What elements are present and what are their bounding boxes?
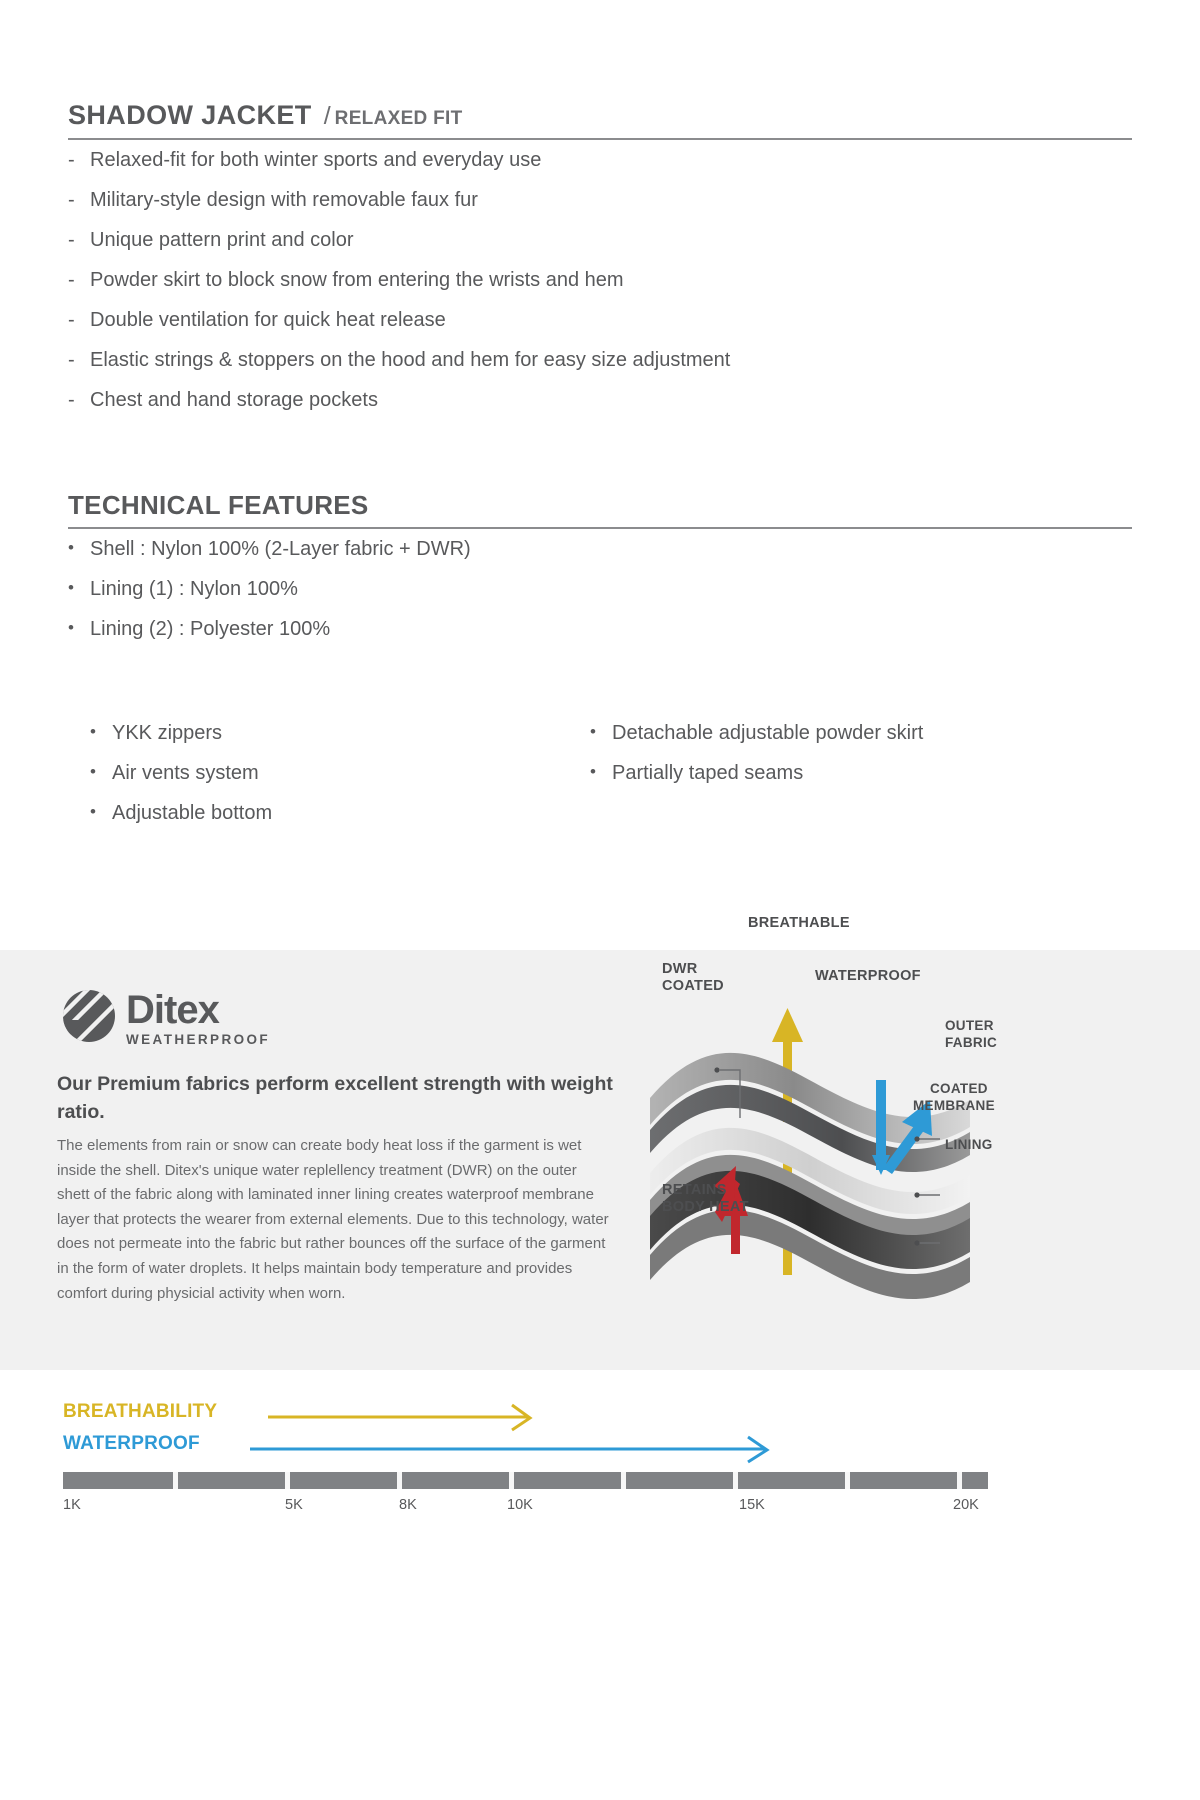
list-item-label: Military-style design with removable fau…: [90, 189, 478, 211]
bullet-marker: •: [68, 568, 74, 608]
list-item: -Unique pattern print and color: [68, 220, 1132, 260]
list-item: -Relaxed-fit for both winter sports and …: [68, 140, 1132, 180]
ditex-logo-mark-icon: [63, 990, 115, 1042]
bullet-marker: •: [90, 712, 96, 752]
list-item-label: Lining (1) : Nylon 100%: [90, 578, 298, 600]
list-item-label: Elastic strings & stoppers on the hood a…: [90, 349, 730, 371]
technical-details-columns: •YKK zippers •Air vents system •Adjustab…: [68, 713, 1132, 833]
retains-body-heat-label-line1: RETAINS: [662, 1182, 727, 1199]
technical-right-column: •Detachable adjustable powder skirt •Par…: [590, 713, 1090, 833]
technical-features-title: TECHNICAL FEATURES: [68, 490, 369, 520]
list-item-label: Relaxed-fit for both winter sports and e…: [90, 149, 541, 171]
tick-label: 10K: [507, 1497, 533, 1513]
dash-marker: -: [68, 260, 75, 300]
waterproof-label: WATERPROOF: [815, 968, 921, 985]
product-section: SHADOW JACKET / RELAXED FIT -Relaxed-fit…: [0, 0, 1200, 833]
lining-label: LINING: [945, 1136, 993, 1153]
breathability-arrow-icon: [268, 1405, 530, 1430]
bullet-marker: •: [590, 752, 596, 792]
outer-fabric-dot: [914, 1136, 919, 1141]
list-item: •Detachable adjustable powder skirt: [590, 713, 1090, 753]
scale-bar: [63, 1472, 988, 1489]
list-item-label: Lining (2) : Polyester 100%: [90, 618, 330, 640]
tick-label: 1K: [63, 1497, 81, 1513]
brand-tagline: WEATHERPROOF: [126, 1032, 270, 1047]
ditex-logo-text: Ditex WEATHERPROOF: [126, 990, 270, 1047]
list-item-label: Shell : Nylon 100% (2-Layer fabric + DWR…: [90, 538, 471, 560]
list-item-label: Air vents system: [112, 762, 259, 784]
list-item-label: Adjustable bottom: [112, 802, 272, 824]
ditex-section: Ditex WEATHERPROOF Our Premium fabrics p…: [0, 950, 1200, 1370]
list-item: •Partially taped seams: [590, 753, 1090, 793]
list-item-label: Double ventilation for quick heat releas…: [90, 309, 446, 331]
ditex-body-text: The elements from rain or snow can creat…: [57, 1134, 612, 1306]
list-item-label: YKK zippers: [112, 722, 222, 744]
dwr-coated-label-line2: COATED: [662, 978, 724, 995]
list-item: -Double ventilation for quick heat relea…: [68, 300, 1132, 340]
dash-marker: -: [68, 220, 75, 260]
list-item: •Adjustable bottom: [90, 793, 590, 833]
product-fit: RELAXED FIT: [335, 108, 463, 130]
coated-membrane-label-line1: COATED: [930, 1080, 988, 1097]
ditex-logo: Ditex WEATHERPROOF: [63, 990, 270, 1047]
ditex-headline: Our Premium fabrics perform excellent st…: [57, 1070, 617, 1126]
materials-list: •Shell : Nylon 100% (2-Layer fabric + DW…: [68, 529, 1132, 649]
coated-membrane-dot: [914, 1192, 919, 1197]
bullet-marker: •: [68, 528, 74, 568]
lining-dot: [914, 1240, 919, 1245]
list-item-label: Partially taped seams: [612, 762, 803, 784]
dash-marker: -: [68, 140, 75, 180]
list-item-label: Unique pattern print and color: [90, 229, 354, 251]
retains-body-heat-label-line2: BODY HEAT: [662, 1199, 749, 1216]
scale-tick-labels: 1K 5K 8K 10K 15K 20K: [63, 1497, 988, 1519]
list-item: •YKK zippers: [90, 713, 590, 753]
product-name: SHADOW JACKET: [68, 100, 312, 131]
list-item-label: Chest and hand storage pockets: [90, 389, 378, 411]
tick-label: 8K: [399, 1497, 417, 1513]
page-title: SHADOW JACKET / RELAXED FIT: [68, 0, 1132, 140]
fabric-layer-diagram: BREATHABLE WATERPROOF DWR COATED OUTER F…: [640, 950, 1180, 1370]
title-separator: /: [324, 102, 331, 131]
tick-label: 5K: [285, 1497, 303, 1513]
bullet-marker: •: [590, 712, 596, 752]
brand-name: Ditex: [126, 990, 270, 1030]
technical-features-heading: TECHNICAL FEATURES: [68, 490, 1132, 529]
tick-label: 15K: [739, 1497, 765, 1513]
list-item: -Powder skirt to block snow from enterin…: [68, 260, 1132, 300]
scale-arrows: [0, 1400, 1200, 1470]
dash-marker: -: [68, 300, 75, 340]
dash-marker: -: [68, 380, 75, 420]
dwr-coated-label-line1: DWR: [662, 961, 698, 978]
performance-scale-chart: BREATHABILITY WATERPROOF 1K: [0, 1400, 1200, 1620]
list-item: -Military-style design with removable fa…: [68, 180, 1132, 220]
spec-sheet-page: SHADOW JACKET / RELAXED FIT -Relaxed-fit…: [0, 0, 1200, 1800]
outer-fabric-label-line2: FABRIC: [945, 1034, 997, 1051]
list-item: •Shell : Nylon 100% (2-Layer fabric + DW…: [68, 529, 1132, 569]
list-item: •Air vents system: [90, 753, 590, 793]
list-item: -Chest and hand storage pockets: [68, 380, 1132, 420]
tick-label: 20K: [953, 1497, 979, 1513]
dash-marker: -: [68, 340, 75, 380]
dwr-leader-dot: [714, 1067, 719, 1072]
bullet-marker: •: [90, 792, 96, 832]
coated-membrane-label-line2: MEMBRANE: [913, 1097, 995, 1114]
list-item-label: Detachable adjustable powder skirt: [612, 722, 923, 744]
list-item: •Lining (2) : Polyester 100%: [68, 609, 1132, 649]
fabric-layers-illustration: [640, 950, 1180, 1370]
list-item: •Lining (1) : Nylon 100%: [68, 569, 1132, 609]
outer-fabric-label-line1: OUTER: [945, 1017, 994, 1034]
product-feature-list: -Relaxed-fit for both winter sports and …: [68, 140, 1132, 420]
bullet-marker: •: [68, 608, 74, 648]
list-item-label: Powder skirt to block snow from entering…: [90, 269, 624, 291]
technical-left-column: •YKK zippers •Air vents system •Adjustab…: [90, 713, 590, 833]
dash-marker: -: [68, 180, 75, 220]
list-item: -Elastic strings & stoppers on the hood …: [68, 340, 1132, 380]
bullet-marker: •: [90, 752, 96, 792]
breathable-label: BREATHABLE: [748, 915, 850, 932]
waterproof-arrow-scale-icon: [250, 1437, 767, 1462]
